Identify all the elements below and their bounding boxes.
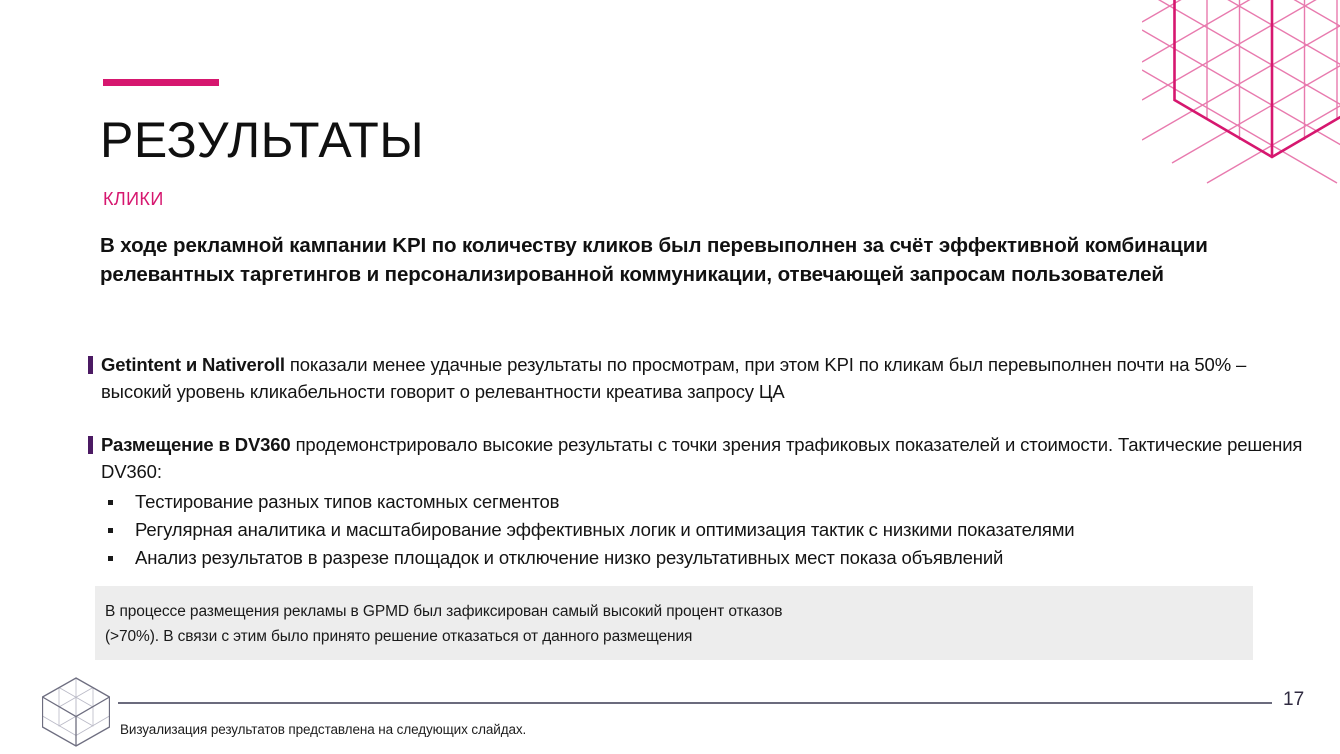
hex-lattice-decoration: [1142, 0, 1340, 220]
footer-note: Визуализация результатов представлена на…: [120, 722, 526, 738]
list-item: Анализ результатов в разрезе площадок и …: [108, 544, 1318, 572]
callout-line-2: (>70%). В связи с этим было принято реше…: [105, 624, 1253, 649]
bullet-block-dv360: Размещение в DV360 продемонстрировало вы…: [88, 432, 1313, 485]
title-accent-bar: [103, 79, 219, 86]
sub-bullet-label: Тестирование разных типов кастомных сегм…: [135, 488, 559, 516]
bullet-strong-getintent: Getintent и Nativeroll: [101, 354, 285, 375]
sub-bullet-label: Регулярная аналитика и масштабирование э…: [135, 516, 1074, 544]
callout-box: В процессе размещения рекламы в GPMD был…: [95, 586, 1253, 660]
list-item: Тестирование разных типов кастомных сегм…: [108, 488, 1318, 516]
bullet-text-getintent: Getintent и Nativeroll показали менее уд…: [101, 352, 1313, 405]
page-number: 17: [1283, 690, 1304, 709]
square-bullet-icon: [108, 556, 113, 561]
bullet-block-getintent: Getintent и Nativeroll показали менее уд…: [88, 352, 1313, 405]
sub-bullet-list: Тестирование разных типов кастомных сегм…: [108, 488, 1318, 572]
bullet-bar-marker-icon: [88, 356, 93, 374]
bullet-strong-dv360: Размещение в DV360: [101, 434, 291, 455]
square-bullet-icon: [108, 500, 113, 505]
footer-divider: [118, 702, 1272, 704]
callout-line-1: В процессе размещения рекламы в GPMD был…: [105, 599, 1253, 624]
sub-bullet-label: Анализ результатов в разрезе площадок и …: [135, 544, 1003, 572]
list-item: Регулярная аналитика и масштабирование э…: [108, 516, 1318, 544]
square-bullet-icon: [108, 528, 113, 533]
page-title: РЕЗУЛЬТАТЫ: [100, 115, 424, 165]
bullet-text-dv360: Размещение в DV360 продемонстрировало вы…: [101, 432, 1313, 485]
cube-logo-icon: [42, 673, 110, 751]
slide-canvas: РЕЗУЛЬТАТЫ КЛИКИ В ходе рекламной кампан…: [0, 0, 1340, 754]
lead-paragraph: В ходе рекламной кампании KPI по количес…: [100, 231, 1240, 289]
bullet-bar-marker-icon: [88, 436, 93, 454]
page-subtitle: КЛИКИ: [103, 190, 164, 208]
